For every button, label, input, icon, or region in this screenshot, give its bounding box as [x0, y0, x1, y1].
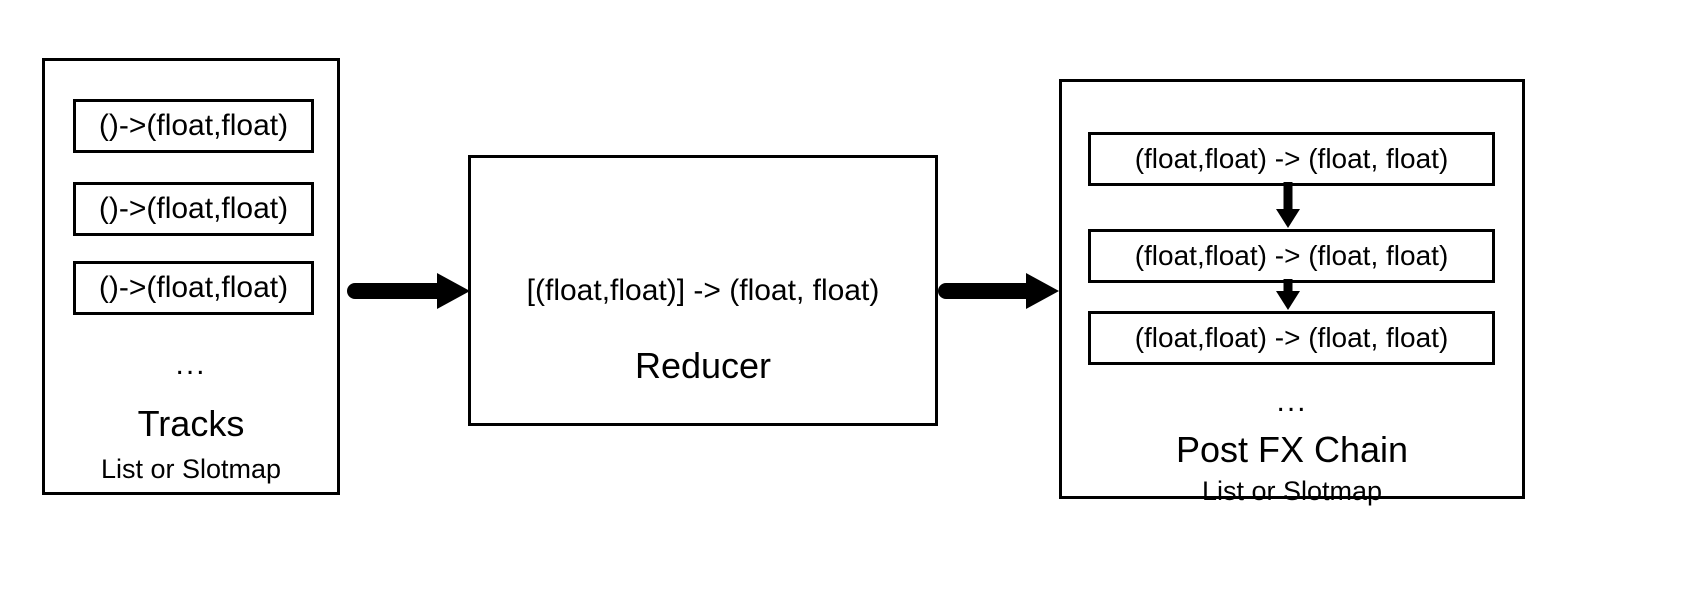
fx-ellipsis: ...: [1062, 387, 1522, 417]
fx-panel-subtitle: List or Slotmap: [1062, 478, 1522, 505]
fx-item-signature: (float,float) -> (float, float): [1135, 322, 1449, 354]
fx-item[interactable]: (float,float) -> (float, float): [1088, 132, 1495, 186]
fx-item[interactable]: (float,float) -> (float, float): [1088, 229, 1495, 283]
reducer-signature: [(float,float)] -> (float, float): [471, 276, 935, 306]
track-item-signature: ()->(float,float): [99, 192, 288, 226]
fx-panel-title: Post FX Chain: [1062, 432, 1522, 468]
track-item-signature: ()->(float,float): [99, 271, 288, 305]
track-item[interactable]: ()->(float,float): [73, 99, 314, 153]
track-item-signature: ()->(float,float): [99, 109, 288, 143]
reducer-panel-title: Reducer: [471, 348, 935, 384]
fx-item[interactable]: (float,float) -> (float, float): [1088, 311, 1495, 365]
tracks-to-reducer-arrow: [355, 273, 470, 309]
track-item[interactable]: ()->(float,float): [73, 261, 314, 315]
tracks-ellipsis: ...: [45, 350, 337, 380]
diagram-canvas: ()->(float,float) ()->(float,float) ()->…: [0, 0, 1694, 600]
fx-item-signature: (float,float) -> (float, float): [1135, 143, 1449, 175]
tracks-panel-subtitle: List or Slotmap: [45, 456, 337, 483]
track-item[interactable]: ()->(float,float): [73, 182, 314, 236]
reducer-panel: [(float,float)] -> (float, float) Reduce…: [468, 155, 938, 426]
post-fx-chain-panel: (float,float) -> (float, float) (float,f…: [1059, 79, 1525, 499]
reducer-to-fx-arrow: [946, 273, 1059, 309]
tracks-panel-title: Tracks: [45, 406, 337, 442]
fx-item-signature: (float,float) -> (float, float): [1135, 240, 1449, 272]
tracks-panel: ()->(float,float) ()->(float,float) ()->…: [42, 58, 340, 495]
